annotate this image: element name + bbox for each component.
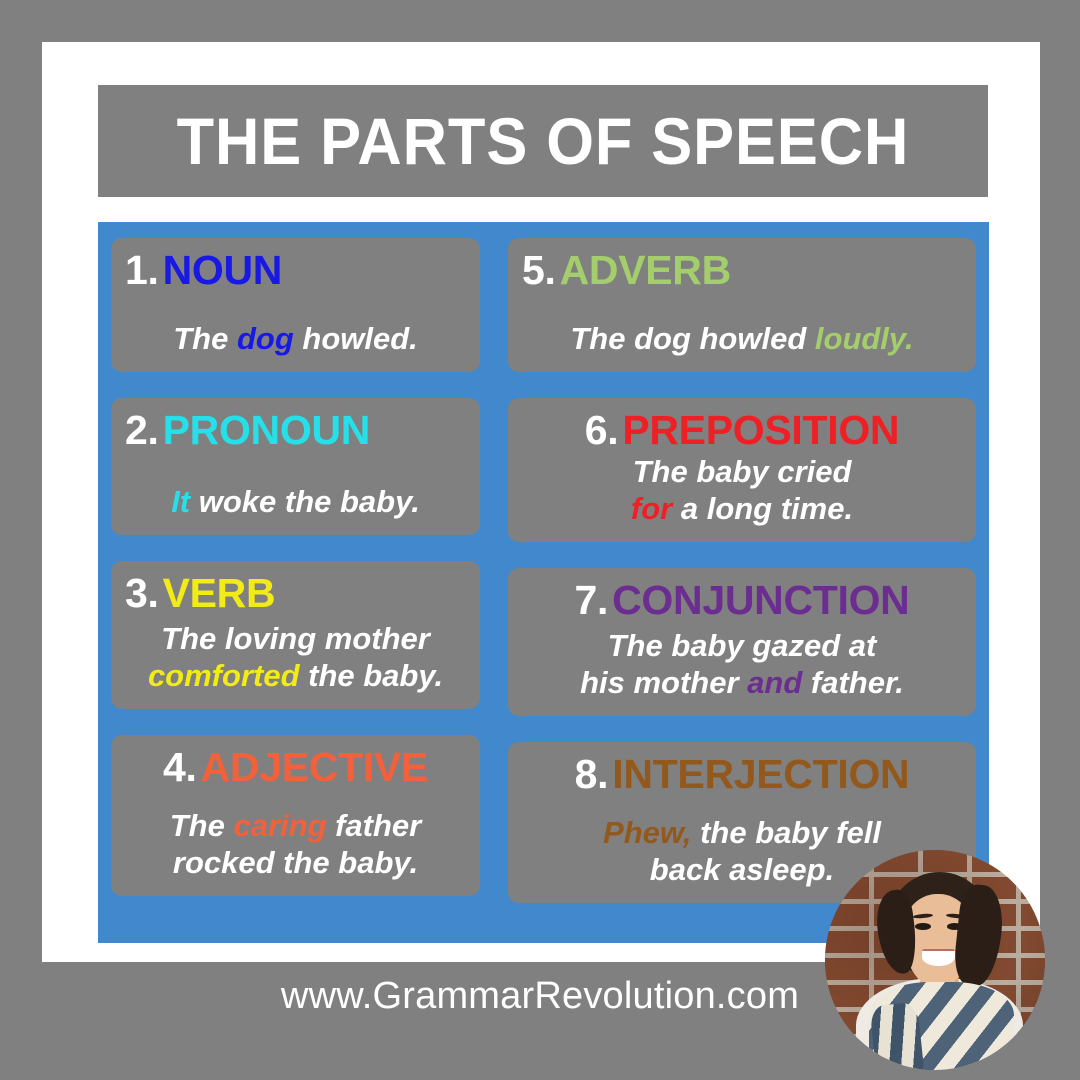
card-number: 6. [585,407,619,453]
card-heading: 8.INTERJECTION [522,750,962,798]
card-part-of-speech-name: PRONOUN [163,407,370,453]
card-heading: 6.PREPOSITION [522,406,962,454]
sentence-text: his mother [580,665,747,700]
highlighted-word: Phew, [603,815,691,850]
sentence-text: The loving mother [161,621,430,656]
highlighted-word: loudly. [815,321,914,356]
card-heading: 4.ADJECTIVE [125,743,466,791]
example-line: The caring father [125,808,466,845]
title-bar: THE PARTS OF SPEECH [98,85,988,197]
card-example-sentence: The baby criedfor a long time. [522,454,962,530]
card-example-sentence: The loving mothercomforted the baby. [125,621,466,697]
card-preposition[interactable]: 6.PREPOSITIONThe baby criedfor a long ti… [508,398,976,542]
card-heading: 5.ADVERB [522,246,962,294]
card-heading: 1.NOUN [125,246,466,294]
highlighted-word: dog [237,321,294,356]
card-heading: 2.PRONOUN [125,406,466,454]
sentence-text: the baby. [300,658,444,693]
sentence-text: rocked the baby. [173,845,418,880]
example-line: The loving mother [125,621,466,658]
sentence-text: back asleep. [650,852,834,887]
sentence-text: The dog howled [570,321,815,356]
card-number: 4. [163,744,197,790]
example-line: The baby gazed at [522,628,962,665]
card-noun[interactable]: 1.NOUNThe dog howled. [111,238,480,372]
card-number: 8. [575,751,609,797]
card-pronoun[interactable]: 2.PRONOUNIt woke the baby. [111,398,480,535]
example-line: The dog howled. [125,321,466,358]
card-part-of-speech-name: CONJUNCTION [612,577,909,623]
highlighted-word: for [631,491,672,526]
sentence-text: The [170,808,234,843]
sentence-text: father. [802,665,904,700]
example-line: The baby cried [522,454,962,491]
card-number: 7. [575,577,609,623]
card-number: 1. [125,247,159,293]
highlighted-word: and [747,665,802,700]
sentence-text: The [173,321,237,356]
card-example-sentence: The caring fatherrocked the baby. [125,808,466,884]
card-number: 2. [125,407,159,453]
card-example-sentence: The dog howled loudly. [522,321,962,360]
card-adverb[interactable]: 5.ADVERBThe dog howled loudly. [508,238,976,372]
card-heading: 3.VERB [125,569,466,617]
card-part-of-speech-name: INTERJECTION [612,751,909,797]
card-part-of-speech-name: PREPOSITION [622,407,899,453]
example-line: for a long time. [522,491,962,528]
card-example-sentence: The baby gazed athis mother and father. [522,628,962,704]
sentence-text: The baby gazed at [608,628,877,663]
card-part-of-speech-name: ADJECTIVE [201,744,428,790]
highlighted-word: caring [233,808,326,843]
sentence-text: father [327,808,422,843]
card-number: 5. [522,247,556,293]
highlighted-word: comforted [148,658,300,693]
avatar [825,850,1045,1070]
card-part-of-speech-name: VERB [163,570,276,616]
example-line: rocked the baby. [125,845,466,882]
sentence-text: the baby fell [691,815,880,850]
example-line: It woke the baby. [125,484,466,521]
card-adjective[interactable]: 4.ADJECTIVEThe caring fatherrocked the b… [111,735,480,896]
sentence-text: woke the baby. [190,484,420,519]
card-part-of-speech-name: ADVERB [560,247,731,293]
card-number: 3. [125,570,159,616]
parts-of-speech-panel: 1.NOUNThe dog howled.2.PRONOUNIt woke th… [98,222,989,943]
highlighted-word: It [171,484,190,519]
sentence-text: a long time. [672,491,853,526]
example-line: Phew, the baby fell [522,815,962,852]
sentence-text: The baby cried [633,454,852,489]
card-part-of-speech-name: NOUN [163,247,283,293]
sentence-text: howled. [294,321,418,356]
card-heading: 7.CONJUNCTION [522,576,962,624]
eye-left [915,923,930,930]
example-line: his mother and father. [522,665,962,702]
example-line: The dog howled loudly. [522,321,962,358]
card-example-sentence: It woke the baby. [125,484,466,523]
card-conjunction[interactable]: 7.CONJUNCTIONThe baby gazed athis mother… [508,568,976,716]
page-title: THE PARTS OF SPEECH [177,108,910,174]
column-left: 1.NOUNThe dog howled.2.PRONOUNIt woke th… [111,238,494,927]
column-right: 5.ADVERBThe dog howled loudly.6.PREPOSIT… [494,238,976,927]
card-example-sentence: The dog howled. [125,321,466,360]
card-verb[interactable]: 3.VERBThe loving mothercomforted the bab… [111,561,480,709]
example-line: comforted the baby. [125,658,466,695]
